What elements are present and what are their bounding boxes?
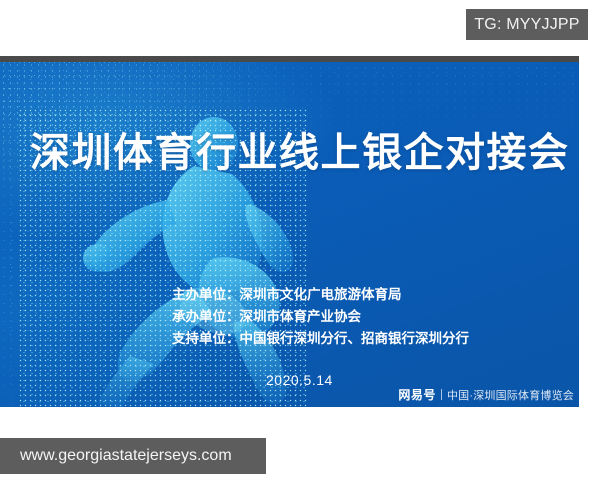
event-date: 2020.5.14 <box>266 372 333 388</box>
organizer-list: 主办单位：深圳市文化广电旅游体育局 承办单位：深圳市体育产业协会 支持单位：中国… <box>172 284 469 350</box>
poster-title: 深圳体育行业线上银企对接会 <box>30 131 560 175</box>
poster-image: 深圳体育行业线上银企对接会 主办单位：深圳市文化广电旅游体育局 承办单位：深圳市… <box>0 56 579 407</box>
netease-credit: 网易号 中国·深圳国际体育博览会 <box>398 386 574 403</box>
organizer-line-supporter: 支持单位：中国银行深圳分行、招商银行深圳分行 <box>172 328 469 350</box>
credit-divider <box>441 389 442 400</box>
organizer-line-host: 主办单位：深圳市文化广电旅游体育局 <box>172 284 469 306</box>
site-url-watermark: www.georgiastatejerseys.com <box>0 438 266 474</box>
netease-logo-text: 网易号 <box>398 386 436 403</box>
organizer-line-organizer: 承办单位：深圳市体育产业协会 <box>172 306 469 328</box>
tg-watermark-badge: TG: MYYJJPP <box>466 9 588 40</box>
credit-source-text: 中国·深圳国际体育博览会 <box>447 387 574 403</box>
